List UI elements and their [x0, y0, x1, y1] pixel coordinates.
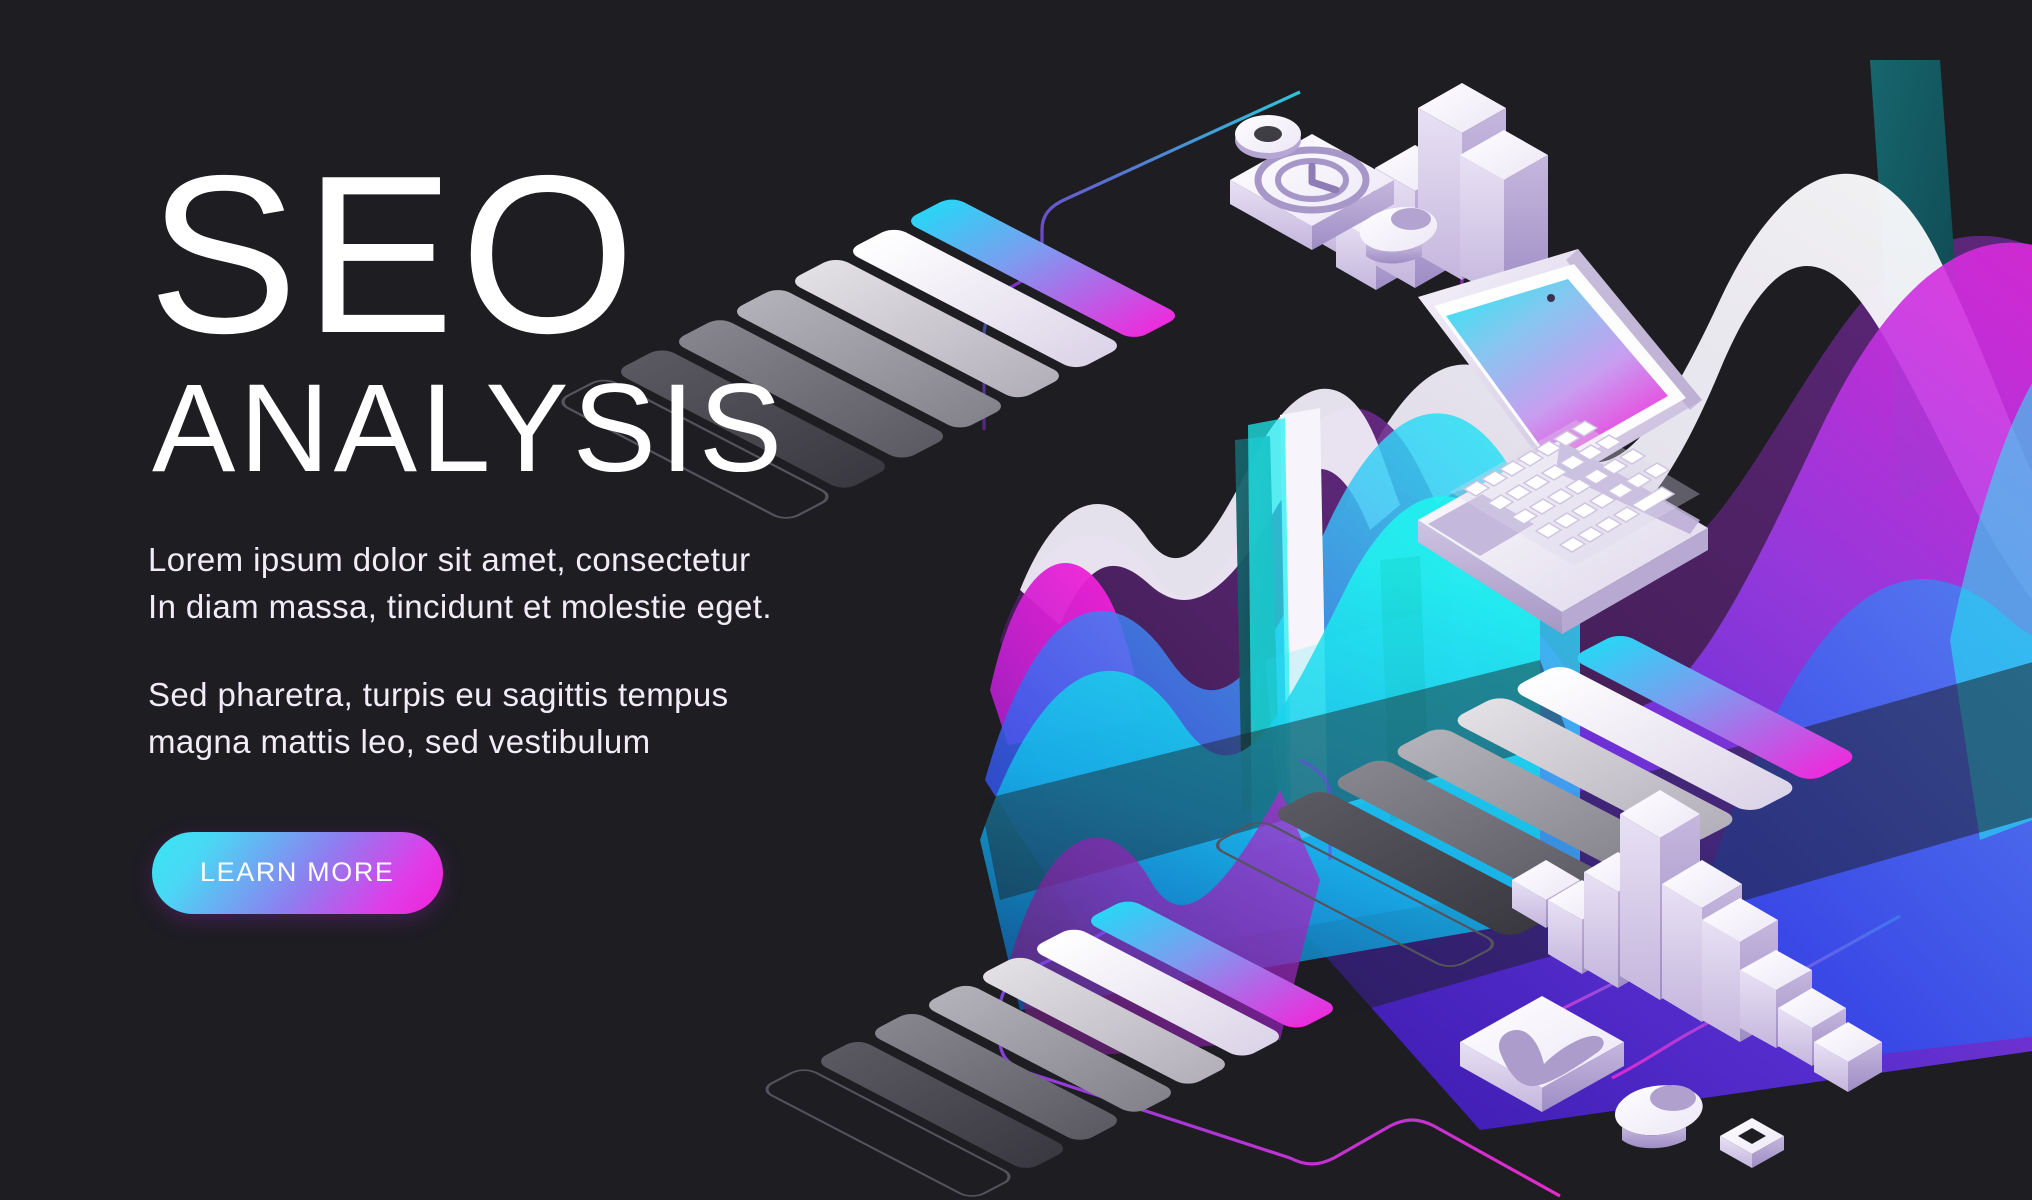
hero-content: SEO ANALYSIS Lorem ipsum dolor sit amet,…	[148, 150, 908, 914]
description-paragraph-2: Sed pharetra, turpis eu sagittis tempus …	[148, 672, 908, 766]
donut-ring	[1235, 115, 1301, 159]
learn-more-button[interactable]: LEARN MORE	[152, 832, 443, 914]
paragraph-1-line-2: In diam massa, tincidunt et molestie ege…	[148, 584, 908, 631]
description-paragraph-1: Lorem ipsum dolor sit amet, consectetur …	[148, 537, 908, 631]
seo-analysis-banner: SEO ANALYSIS Lorem ipsum dolor sit amet,…	[0, 0, 2032, 1200]
page-subtitle: ANALYSIS	[152, 365, 908, 493]
paragraph-2-line-2: magna mattis leo, sed vestibulum	[148, 719, 908, 766]
paragraph-1-line-1: Lorem ipsum dolor sit amet, consectetur	[148, 537, 908, 584]
page-title: SEO	[148, 150, 908, 359]
square-frame	[1720, 1118, 1784, 1168]
paragraph-2-line-1: Sed pharetra, turpis eu sagittis tempus	[148, 672, 908, 719]
